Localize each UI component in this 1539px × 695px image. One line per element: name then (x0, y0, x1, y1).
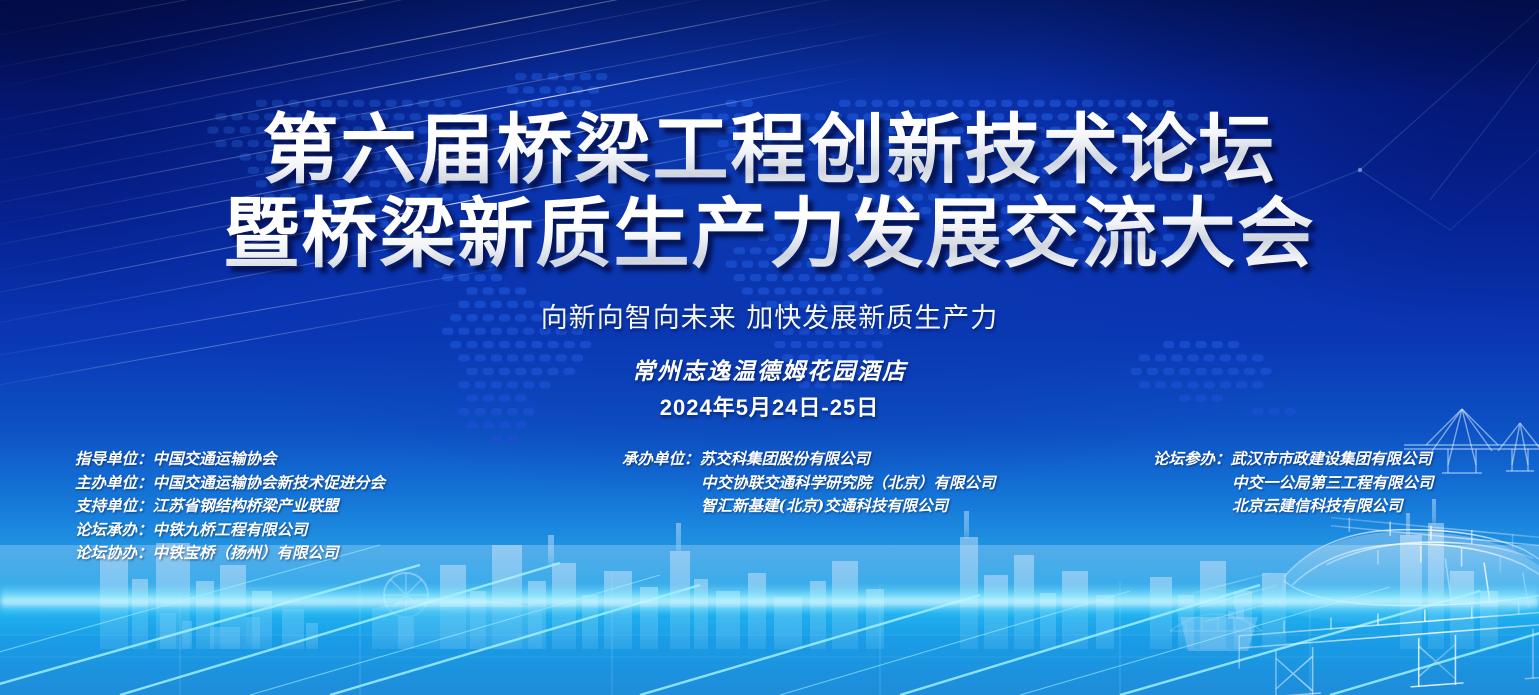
light-streaks-layer (0, 0, 1539, 695)
organizer-value: 北京云建信科技有限公司 (1232, 496, 1403, 515)
vignette-overlay (0, 0, 1539, 695)
title-line-2: 暨桥梁新质生产力发展交流大会 (0, 192, 1539, 276)
organizer-row: 北京云建信科技有限公司 (1153, 494, 1434, 518)
organizers-column-middle: 承办单位：苏交科集团股份有限公司中交协联交通科学研究院（北京）有限公司智汇新基建… (622, 447, 996, 518)
organizer-label: 指导单位： (75, 449, 153, 468)
venue-dates: 2024年5月24日-25日 (0, 390, 1539, 422)
high-speed-train-wireframe (1192, 518, 1539, 695)
organizer-row: 指导单位：中国交通运输协会 (75, 447, 385, 471)
organizer-row: 中交一公局第三工程有限公司 (1153, 471, 1434, 495)
venue-block: 常州志逸温德姆花园酒店 2024年5月24日-25日 (0, 352, 1539, 422)
organizers-column-right: 论坛参办：武汉市市政建设集团有限公司中交一公局第三工程有限公司北京云建信科技有限… (1153, 447, 1434, 518)
organizer-row: 承办单位：苏交科集团股份有限公司 (622, 447, 996, 471)
stadium-building (372, 598, 542, 649)
organizer-label: 承办单位： (622, 449, 700, 468)
ship-silhouette (1180, 607, 1258, 651)
organizer-value: 武汉市市政建设集团有限公司 (1231, 449, 1433, 468)
organizer-row: 论坛承办：中铁九桥工程有限公司 (75, 518, 385, 542)
organizer-value: 苏交科集团股份有限公司 (700, 449, 871, 468)
organizer-label: 支持单位： (75, 496, 153, 515)
organizer-value: 中铁宝桥（扬州）有限公司 (153, 543, 339, 562)
title-line-1: 第六届桥梁工程创新技术论坛 (0, 108, 1539, 192)
organizer-row: 论坛协办：中铁宝桥（扬州）有限公司 (75, 541, 385, 565)
organizer-row: 中交协联交通科学研究院（北京）有限公司 (622, 471, 996, 495)
organizer-row: 论坛参办：武汉市市政建设集团有限公司 (1153, 447, 1434, 471)
organizer-label: 论坛承办： (75, 520, 153, 539)
organizer-row: 主办单位：中国交通运输协会新技术促进分会 (75, 471, 385, 495)
organizer-label: 论坛协办： (75, 543, 153, 562)
horizon-glow-band (0, 585, 1539, 615)
organizer-label: 论坛参办： (1153, 449, 1231, 468)
organizer-value: 中国交通运输协会新技术促进分会 (153, 473, 386, 492)
subtitle: 向新向智向未来 加快发展新质生产力 (0, 296, 1539, 335)
venue-name: 常州志逸温德姆花园酒店 (0, 352, 1539, 386)
organizer-value: 中铁九桥工程有限公司 (153, 520, 308, 539)
conference-banner: 第六届桥梁工程创新技术论坛 暨桥梁新质生产力发展交流大会 向新向智向未来 加快发… (0, 0, 1539, 695)
organizer-value: 中交协联交通科学研究院（北京）有限公司 (701, 473, 996, 492)
city-skyline-left (160, 609, 318, 649)
organizer-value: 江苏省钢结构桥梁产业联盟 (153, 496, 339, 515)
arch-bridge-silhouette (1170, 614, 1262, 631)
organizer-value: 智汇新基建(北京)交通科技有限公司 (701, 496, 948, 515)
organizer-row: 智汇新基建(北京)交通科技有限公司 (622, 494, 996, 518)
organizer-value: 中交一公局第三工程有限公司 (1232, 473, 1434, 492)
sea-reflection (0, 600, 1539, 695)
grid-ticks (0, 571, 1539, 695)
glow-rays (0, 563, 1539, 695)
organizers-column-left: 指导单位：中国交通运输协会主办单位：中国交通运输协会新技术促进分会支持单位：江苏… (75, 447, 385, 565)
world-map-dot-matrix (0, 0, 1539, 695)
organizer-label: 主办单位： (75, 473, 153, 492)
organizer-row: 支持单位：江苏省钢结构桥梁产业联盟 (75, 494, 385, 518)
title-block: 第六届桥梁工程创新技术论坛 暨桥梁新质生产力发展交流大会 (0, 108, 1539, 276)
organizer-value: 中国交通运输协会 (153, 449, 277, 468)
